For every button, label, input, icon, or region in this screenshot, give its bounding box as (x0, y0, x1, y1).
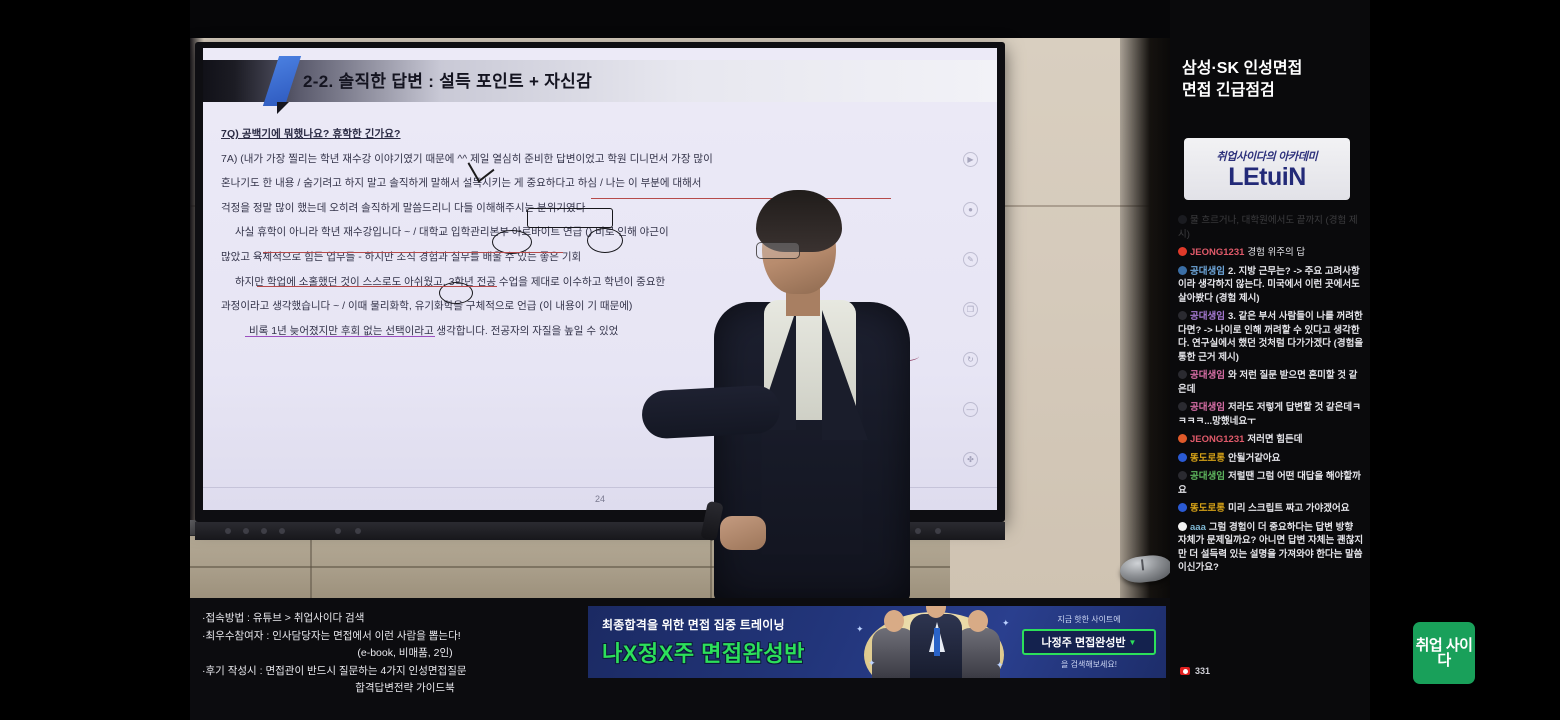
broadcast-title: 삼성·SK 인성면접 면접 긴급점검 (1182, 58, 1362, 102)
banner-title: 나X정X주 면접완성반 (602, 636, 805, 668)
viewer-count-badge: 331 (1180, 666, 1210, 676)
chat-text: 물 흐르거나, 대학원에서도 끝까지 (경험 제시) (1178, 215, 1358, 240)
presenter-figure (660, 150, 920, 600)
broadcast-title-line2: 면접 긴급점검 (1182, 80, 1362, 102)
port-icon (935, 528, 941, 534)
chat-user-badge-icon (1178, 503, 1187, 512)
screenshot-root: 2-2. 솔직한 답변 : 설득 포인트 + 자신감 7Q) 공백기에 뭐했나요… (0, 0, 1560, 720)
port-icon (279, 528, 285, 534)
settings-icon[interactable]: ✤ (963, 452, 978, 467)
chat-user-badge-icon (1178, 311, 1187, 320)
counter-divider (310, 536, 312, 598)
chat-username[interactable]: 공대생임 (1190, 471, 1225, 482)
info-line: 합격답변전략 가이드북 (202, 680, 582, 698)
chat-username[interactable]: aaa (1190, 522, 1206, 533)
live-chat-list[interactable]: 물 흐르거나, 대학원에서도 끝까지 (경험 제시)JEONG1231경험 위주… (1178, 214, 1364, 664)
port-icon (355, 528, 361, 534)
banner-search-cta[interactable]: 지금 핫한 사이트에 나정주 면접완성반 ▼ 을 검색해보세요! (1022, 614, 1156, 670)
chat-username[interactable]: 공대생임 (1190, 402, 1225, 413)
chat-username[interactable]: 공대생임 (1190, 311, 1225, 322)
chat-message[interactable]: aaa그럼 경험이 더 중요하다는 답변 방향 자체가 문제일까요? 아니면 답… (1178, 521, 1364, 575)
chat-user-badge-icon (1178, 266, 1187, 275)
chevron-down-icon[interactable]: ▼ (1129, 638, 1137, 647)
bottom-info-bar: ·접속방법 : 유튜브 > 취업사이다 검색 ·최우수참여자 : 인사담당자는 … (190, 598, 1170, 720)
channel-corner-logo: 취업 사이다 (1413, 622, 1475, 684)
presenter-hand (720, 516, 766, 550)
chat-username[interactable]: 공대생임 (1190, 370, 1225, 381)
chat-message[interactable]: 똥도로롱미리 스크립트 짜고 가야겠어요 (1178, 502, 1364, 516)
chat-user-badge-icon (1178, 471, 1187, 480)
search-term: 나정주 면접완성반 (1042, 634, 1126, 650)
banner-photo: ✦ ✦ ✦ ✦ (850, 606, 1018, 678)
chat-username[interactable]: 똥도로롱 (1190, 503, 1225, 514)
wall-shadow-right (1120, 38, 1170, 598)
brand-logo-script: 취업사이다의 아카데미 (1217, 148, 1318, 164)
chat-user-badge-icon (1178, 247, 1187, 256)
chat-message[interactable]: 공대생임저럴땐 그럼 어떤 대답을 해야할까요 (1178, 470, 1364, 497)
banner-person-head (968, 610, 988, 632)
brand-logo: 취업사이다의 아카데미 LEtuiN (1184, 138, 1350, 200)
chat-user-badge-icon (1178, 522, 1187, 531)
promo-banner[interactable]: 최종합격을 위한 면접 집중 트레이닝 나X정X주 면접완성반 ✦ ✦ ✦ ✦ … (588, 606, 1166, 678)
banner-cta-top: 지금 핫한 사이트에 (1022, 614, 1156, 625)
slide-title: 2-2. 솔직한 답변 : 설득 포인트 + 자신감 (303, 67, 592, 92)
chat-user-badge-icon (1178, 370, 1187, 379)
viewer-count: 331 (1195, 666, 1210, 676)
glasses-icon (756, 242, 800, 259)
chat-user-badge-icon (1178, 453, 1187, 462)
chat-message[interactable]: 공대생임저라도 저렇게 답변할 것 같은데ㅋㅋㅋㅋ...망했네요ㅜ (1178, 401, 1364, 428)
info-line: ·후기 작성시 : 면접관이 반드시 질문하는 4가지 인성면접질문 (202, 663, 582, 681)
sparkle-icon: ✦ (856, 624, 864, 635)
live-record-icon (1180, 667, 1190, 675)
chat-message[interactable]: 똥도로롱안될거같아요 (1178, 452, 1364, 466)
sparkle-icon: ✦ (996, 660, 1004, 671)
chat-text: 저러면 힘든데 (1247, 434, 1302, 445)
copy-icon[interactable]: ❐ (963, 302, 978, 317)
banner-text-group: 최종합격을 위한 면접 집중 트레이닝 나X정X주 면접완성반 (602, 616, 805, 668)
slide-toolbar[interactable]: ▶ ● ✎ ❐ ↻ — ✤ (963, 152, 985, 502)
chat-username[interactable]: 공대생임 (1190, 266, 1225, 277)
banner-person-head (884, 610, 904, 632)
chat-user-badge-icon (1178, 402, 1187, 411)
right-sidebar: 삼성·SK 인성면접 면접 긴급점검 취업사이다의 아카데미 LEtuiN 물 … (1170, 0, 1370, 720)
chat-text: 미리 스크립트 짜고 가야겠어요 (1228, 503, 1350, 514)
pen-icon[interactable]: ✎ (963, 252, 978, 267)
brand-logo-wordmark: LEtuiN (1228, 164, 1306, 191)
info-line: ·최우수참여자 : 인사담당자는 면접에서 이런 사람을 뽑는다! (202, 628, 582, 646)
presenter-arm (641, 384, 781, 439)
chat-username[interactable]: JEONG1231 (1190, 434, 1244, 445)
info-line: (e-book, 비매품, 2인) (202, 645, 582, 663)
chat-user-badge-icon (1178, 215, 1187, 224)
event-info-block: ·접속방법 : 유튜브 > 취업사이다 검색 ·최우수참여자 : 인사담당자는 … (202, 610, 582, 698)
chat-message[interactable]: 물 흐르거나, 대학원에서도 끝까지 (경험 제시) (1178, 214, 1364, 241)
banner-cta-bottom: 을 검색해보세요! (1022, 659, 1156, 670)
play-icon[interactable]: ▶ (963, 152, 978, 167)
record-icon[interactable]: ● (963, 202, 978, 217)
chat-message[interactable]: 공대생임와 저런 질문 받으면 혼미할 것 같은데 (1178, 369, 1364, 396)
chat-message[interactable]: 공대생임3. 같은 부서 사람들이 나를 꺼려한다면? -> 나이로 인해 꺼려… (1178, 310, 1364, 364)
banner-person (956, 628, 1000, 678)
chat-text: 안될거같아요 (1228, 453, 1280, 464)
banner-person-tie (934, 628, 940, 656)
port-icon (225, 528, 231, 534)
slide-title-triangle (277, 102, 289, 114)
port-icon (335, 528, 341, 534)
info-line: ·접속방법 : 유튜브 > 취업사이다 검색 (202, 610, 582, 628)
chat-message[interactable]: JEONG1231저러면 힘든데 (1178, 433, 1364, 447)
broadcast-title-line1: 삼성·SK 인성면접 (1182, 58, 1362, 80)
sparkle-icon: ✦ (1002, 618, 1010, 629)
chat-username[interactable]: JEONG1231 (1190, 247, 1244, 258)
refresh-icon[interactable]: ↻ (963, 352, 978, 367)
chat-message[interactable]: JEONG1231경험 위주의 답 (1178, 246, 1364, 260)
port-icon (243, 528, 249, 534)
banner-headline: 최종합격을 위한 면접 집중 트레이닝 (602, 616, 805, 633)
port-icon (261, 528, 267, 534)
chat-text: 경험 위주의 답 (1247, 247, 1305, 258)
chat-user-badge-icon (1178, 434, 1187, 443)
chat-username[interactable]: 똥도로롱 (1190, 453, 1225, 464)
sparkle-icon: ✦ (868, 658, 876, 669)
slide-line: 7Q) 공백기에 뭐했나요? 휴학한 긴가요? (221, 122, 951, 147)
banner-search-field[interactable]: 나정주 면접완성반 ▼ (1022, 629, 1156, 655)
minus-icon[interactable]: — (963, 402, 978, 417)
chat-message[interactable]: 공대생임2. 지방 근무는? -> 주요 고려사항이라 생각하지 않는다. 미국… (1178, 265, 1364, 306)
